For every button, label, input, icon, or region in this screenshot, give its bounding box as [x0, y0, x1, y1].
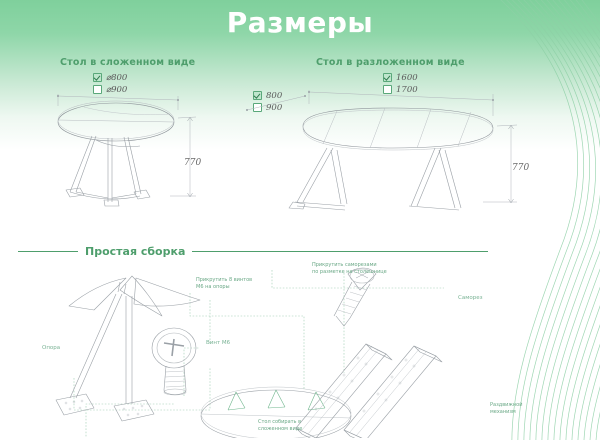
- part-label-vint-m6: Винт М6: [206, 340, 230, 346]
- dimension-height-unfolded: 770: [512, 163, 529, 173]
- option-row[interactable]: 1600: [383, 72, 418, 83]
- section-heading-unfolded: Стол в разложенном виде: [316, 57, 465, 68]
- diagram-unfolded-table: [245, 84, 535, 214]
- option-row[interactable]: ⌀800: [93, 72, 127, 83]
- poster-page: Размеры Стол в сложенном виде Стол в раз…: [0, 0, 600, 440]
- note-assemble-folded: Стол собирать в сложенном виде: [258, 419, 302, 434]
- part-label-mechanism: Раздвижной механизм: [490, 402, 522, 417]
- option-label: ⌀800: [106, 73, 127, 83]
- checkbox-checked-icon[interactable]: [93, 73, 102, 82]
- diagram-assembly: [14, 258, 534, 438]
- divider-line-right: [192, 251, 488, 252]
- note-selftapping: Прикрутить саморезами по разметке на сто…: [312, 262, 387, 277]
- assembly-section-label: Простая сборка: [85, 245, 185, 258]
- page-title: Размеры: [0, 6, 600, 39]
- checkbox-checked-icon[interactable]: [383, 73, 392, 82]
- divider-line-left: [18, 251, 78, 252]
- note-screws: Прикрутить 8 винтов М6 на опоры: [196, 277, 252, 292]
- option-label: 1600: [396, 73, 418, 83]
- diagram-folded-table: [50, 84, 225, 209]
- part-label-samorez: Саморез: [458, 295, 483, 301]
- section-heading-folded: Стол в сложенном виде: [60, 57, 195, 68]
- part-label-opora: Опора: [42, 345, 60, 351]
- dimension-height-folded: 770: [184, 158, 201, 168]
